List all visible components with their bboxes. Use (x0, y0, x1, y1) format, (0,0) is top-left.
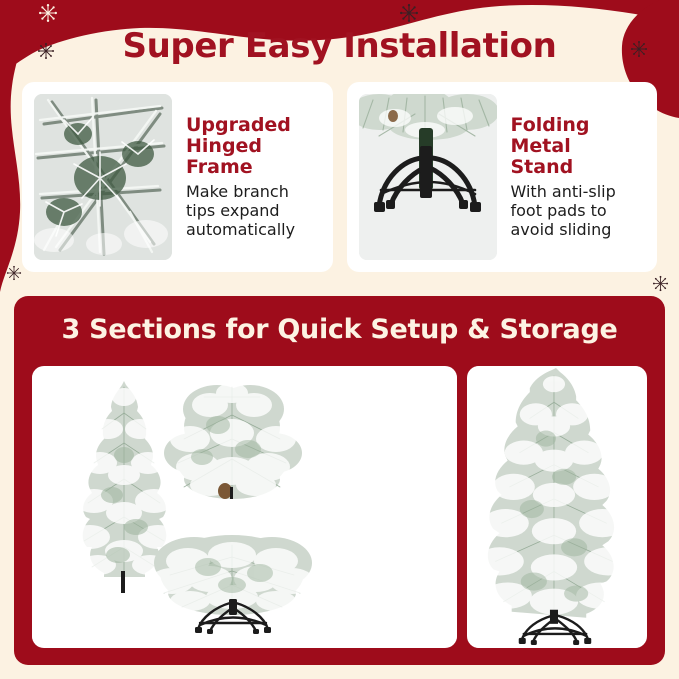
snowflake-top-center-icon (399, 3, 419, 28)
feature-heading: Upgraded Hinged Frame (186, 115, 321, 178)
feature-description: Make branch tips expand automatically (186, 182, 321, 239)
feature-card-metal-stand: Folding Metal Stand With anti-slip foot … (347, 82, 658, 272)
panel-card-row (32, 366, 647, 648)
page-title: Super Easy Installation (0, 26, 679, 66)
product-infographic: Super Easy Installation (0, 0, 679, 679)
sections-panel: 3 Sections for Quick Setup & Storage (14, 296, 665, 665)
three-tree-sections-photo (32, 366, 457, 648)
feature-description: With anti-slip foot pads to avoid slidin… (511, 182, 646, 239)
snowflake-mid-right-icon (652, 275, 669, 297)
assembled-tree-photo (467, 366, 647, 648)
feature-text-block: Folding Metal Stand With anti-slip foot … (511, 115, 646, 239)
feature-card-row: Upgraded Hinged Frame Make branch tips e… (22, 82, 657, 272)
panel-title: 3 Sections for Quick Setup & Storage (14, 314, 665, 345)
feature-card-hinged-frame: Upgraded Hinged Frame Make branch tips e… (22, 82, 333, 272)
snowflake-mid-left-icon (6, 265, 22, 286)
snowflake-top-left-red-icon (38, 3, 58, 28)
feature-text-block: Upgraded Hinged Frame Make branch tips e… (186, 115, 321, 239)
feature-heading: Folding Metal Stand (511, 115, 646, 178)
metal-stand-photo (359, 94, 497, 260)
hinged-branch-photo (34, 94, 172, 260)
